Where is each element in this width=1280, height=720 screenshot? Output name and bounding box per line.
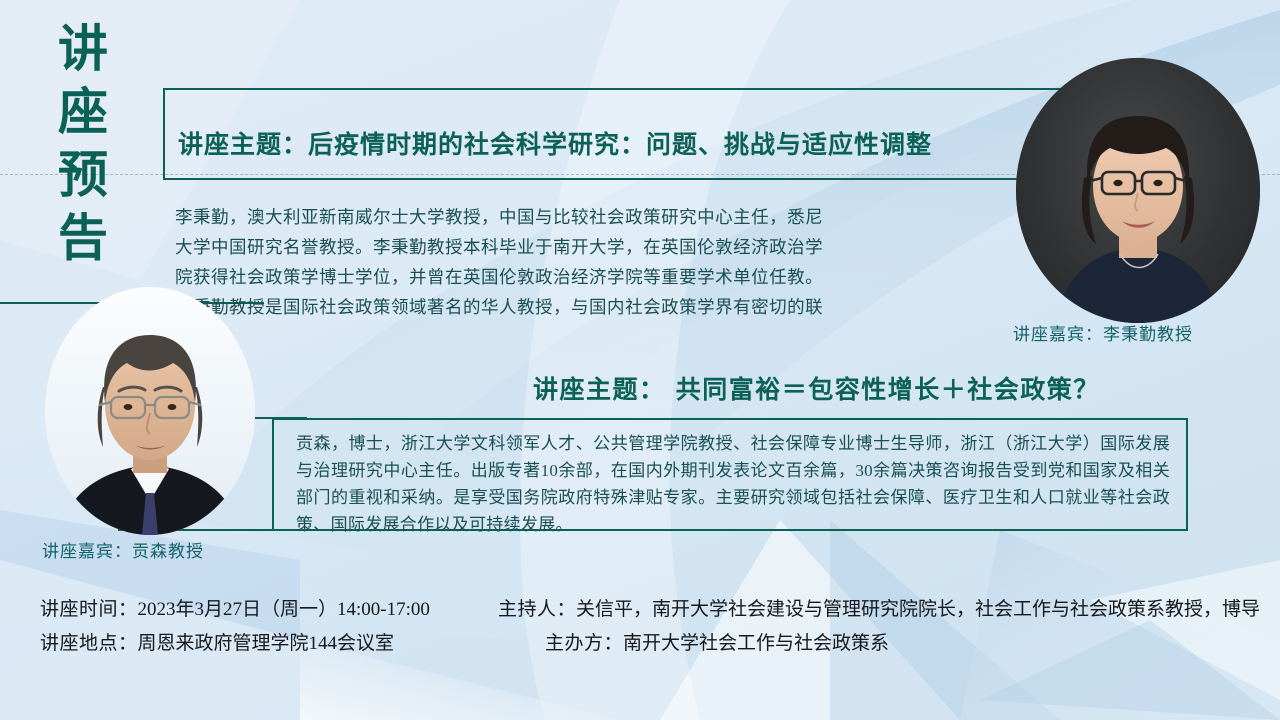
lecture-place: 讲座地点：周恩来政府管理学院144会议室 — [40, 628, 545, 655]
lecture-organizer-label: 主办方： — [545, 633, 623, 654]
speaker-1-portrait — [1016, 58, 1260, 323]
lecture-organizer-value: 南开大学社会工作与社会政策系 — [623, 633, 889, 654]
speaker-2-portrait — [45, 287, 255, 535]
poster-vertical-title: 讲 座 预 告 — [46, 18, 120, 270]
lecture-organizer: 主办方：南开大学社会工作与社会政策系 — [545, 628, 889, 655]
lecture-2-title: 讲座主题： 共同富裕＝包容性增长＋社会政策？ — [533, 370, 1100, 406]
lecture-1-title: 讲座主题：后疫情时期的社会科学研究：问题、挑战与适应性调整 — [178, 125, 932, 161]
vertical-title-char-3: 预 — [46, 144, 120, 207]
lecture-1-speaker-bio: 李秉勤，澳大利亚新南威尔士大学教授，中国与比较社会政策研究中心主任，悉尼大学中国… — [175, 202, 823, 352]
lecture-host: 主持人：关信平，南开大学社会建设与管理研究院院长，社会工作与社会政策系教授，博导 — [498, 594, 1260, 621]
lecture-host-value: 关信平，南开大学社会建设与管理研究院院长，社会工作与社会政策系教授，博导 — [576, 599, 1260, 620]
speaker-2-caption: 讲座嘉宾：贡森教授 — [42, 537, 204, 562]
lecture-time: 讲座时间：2023年3月27日（周一）14:00-17:00 — [40, 594, 498, 621]
vertical-title-char-4: 告 — [46, 207, 120, 270]
vertical-title-char-1: 讲 — [46, 18, 120, 81]
lecture-time-label: 讲座时间： — [40, 599, 138, 620]
footer-row-1: 讲座时间：2023年3月27日（周一）14:00-17:00 主持人：关信平，南… — [40, 594, 1260, 621]
lecture-place-label: 讲座地点： — [40, 633, 138, 654]
lecture-host-label: 主持人： — [498, 599, 576, 620]
footer-info: 讲座时间：2023年3月27日（周一）14:00-17:00 主持人：关信平，南… — [40, 594, 1260, 662]
footer-row-2: 讲座地点：周恩来政府管理学院144会议室 主办方：南开大学社会工作与社会政策系 — [40, 628, 1260, 655]
lecture-announcement-poster: 讲 座 预 告 讲座主题：后疫情时期的社会科学研究：问题、挑战与适应性调整 李秉… — [0, 0, 1280, 720]
lecture-time-value: 2023年3月27日（周一）14:00-17:00 — [138, 599, 430, 620]
lecture-place-value: 周恩来政府管理学院144会议室 — [138, 633, 395, 654]
lecture-2-speaker-bio: 贡森，博士，浙江大学文科领军人才、公共管理学院教授、社会保障专业博士生导师，浙江… — [296, 430, 1170, 538]
vertical-title-char-2: 座 — [46, 81, 120, 144]
speaker-1-caption: 讲座嘉宾：李秉勤教授 — [1013, 320, 1193, 345]
